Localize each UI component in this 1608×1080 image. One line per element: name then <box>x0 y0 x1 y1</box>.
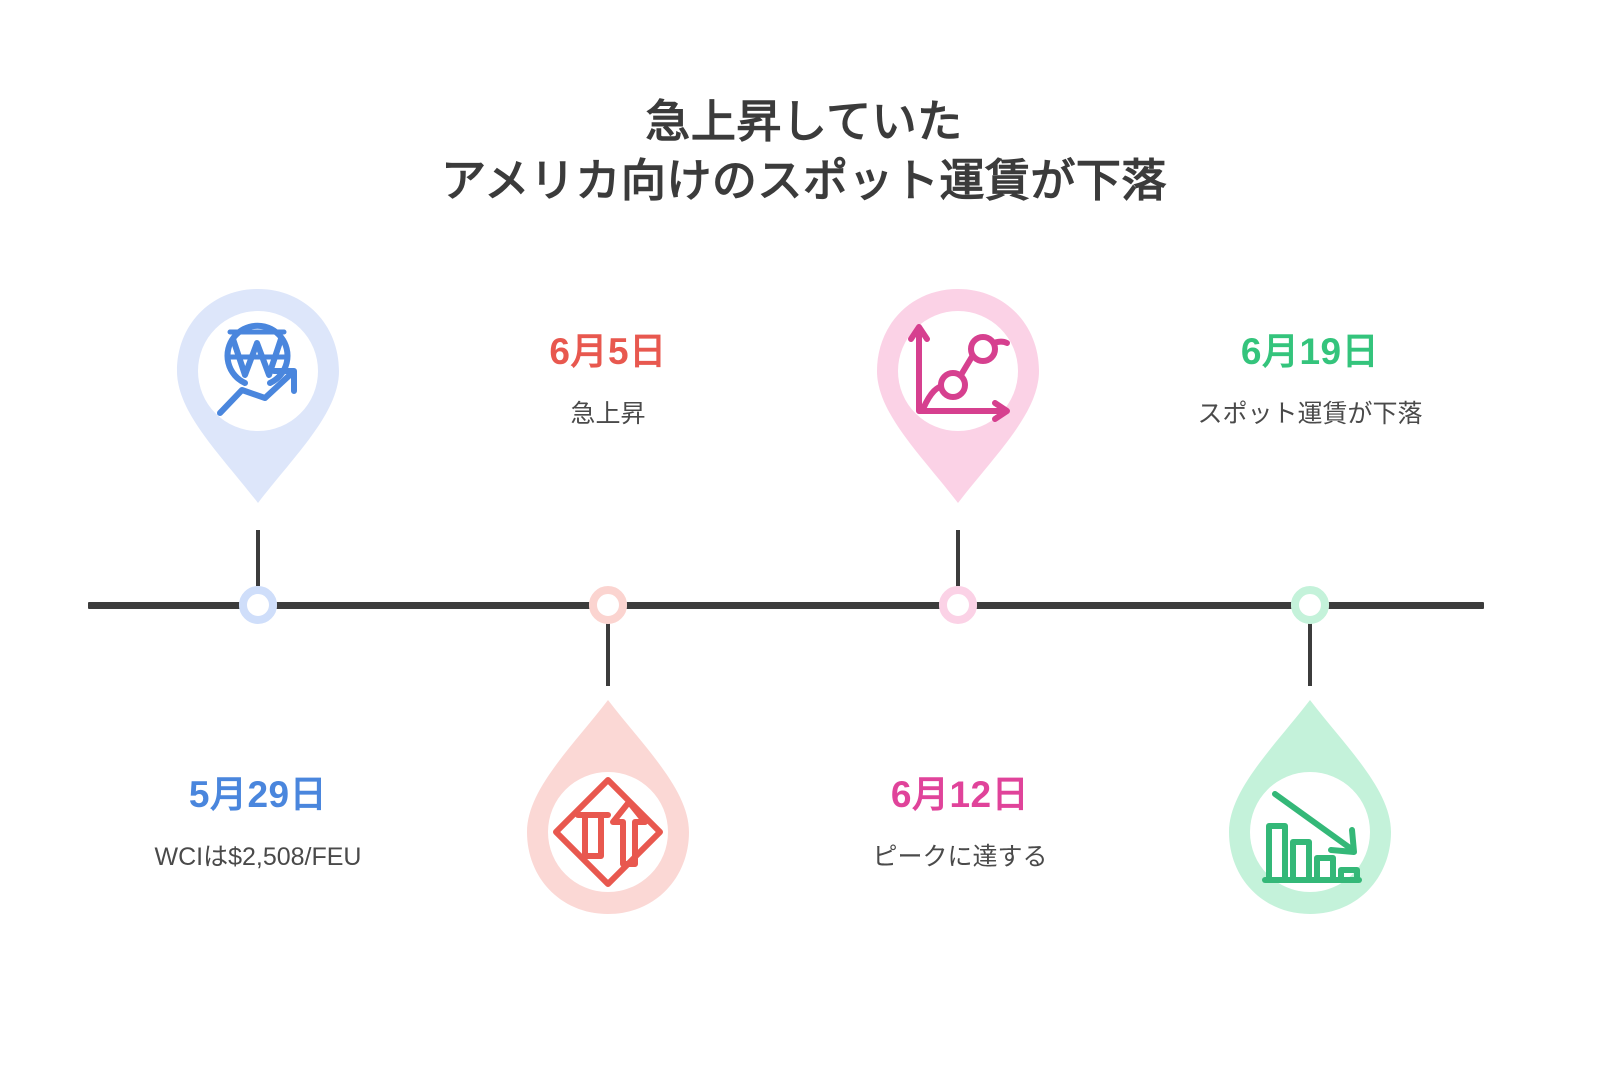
node-ring-icon <box>1291 586 1329 624</box>
pin-event-1[interactable] <box>173 287 343 505</box>
node-ring-icon <box>939 586 977 624</box>
stem-event-3 <box>956 530 960 592</box>
title-line-2: アメリカ向けのスポット運賃が下落 <box>0 151 1608 210</box>
page-title: 急上昇していた アメリカ向けのスポット運賃が下落 <box>0 92 1608 211</box>
title-line-1: 急上昇していた <box>0 92 1608 151</box>
label-date-event-4: 6月19日 <box>1100 332 1520 373</box>
label-description-event-1: WCIは$2,508/FEU <box>48 842 468 873</box>
label-event-1: 5月29日 WCIは$2,508/FEU <box>48 775 468 873</box>
pin-event-3[interactable] <box>873 287 1043 505</box>
pin-inner-circle <box>548 772 668 892</box>
timeline-node-event-3[interactable] <box>939 586 977 624</box>
label-description-event-4: スポット運賃が下落 <box>1100 399 1520 430</box>
pin-event-2[interactable] <box>523 698 693 916</box>
node-ring-icon <box>239 586 277 624</box>
label-event-4: 6月19日 スポット運賃が下落 <box>1100 332 1520 430</box>
timeline-node-event-2[interactable] <box>589 586 627 624</box>
label-date-event-1: 5月29日 <box>48 775 468 816</box>
timeline-axis <box>88 602 1484 609</box>
label-event-3: 6月12日 ピークに達する <box>750 775 1170 873</box>
label-date-event-2: 6月5日 <box>398 332 818 373</box>
stem-event-2 <box>606 618 610 686</box>
label-description-event-3: ピークに達する <box>750 842 1170 873</box>
stem-event-1 <box>256 530 260 592</box>
pin-event-4[interactable] <box>1225 698 1395 916</box>
pin-inner-circle <box>198 311 318 431</box>
label-description-event-2: 急上昇 <box>398 399 818 430</box>
stem-event-4 <box>1308 618 1312 686</box>
label-event-2: 6月5日 急上昇 <box>398 332 818 430</box>
label-date-event-3: 6月12日 <box>750 775 1170 816</box>
timeline-node-event-4[interactable] <box>1291 586 1329 624</box>
node-ring-icon <box>589 586 627 624</box>
timeline-node-event-1[interactable] <box>239 586 277 624</box>
